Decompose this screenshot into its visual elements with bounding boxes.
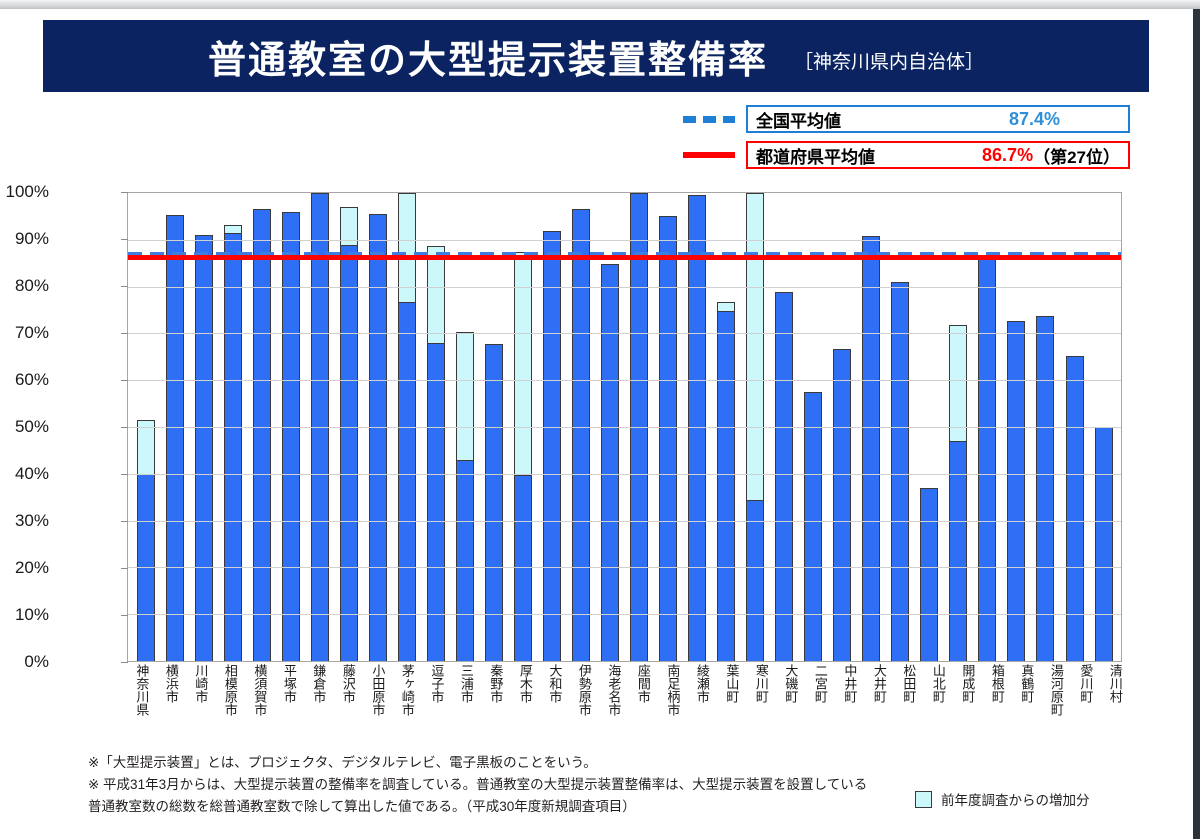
y-axis-tick-label: 30% [15, 511, 49, 531]
gridline [128, 474, 1121, 475]
bar-base-segment [775, 292, 793, 661]
bar-base-segment [572, 209, 590, 661]
bar-increase-segment [224, 225, 242, 233]
x-axis-label: 座間市 [629, 664, 659, 716]
bar-base-segment [253, 209, 271, 661]
x-axis-label: 大井町 [865, 664, 895, 716]
x-axis-label: 湯河原町 [1042, 664, 1072, 716]
x-axis-label: 大磯町 [776, 664, 806, 716]
bar-base-segment [1036, 316, 1054, 661]
gridline [128, 240, 1121, 241]
y-axis-tick [121, 521, 128, 522]
gridline [128, 380, 1121, 381]
x-axis-label: 南足柄市 [658, 664, 688, 716]
x-axis-label: 横須賀市 [245, 664, 275, 716]
bar-真鶴町[interactable] [1007, 321, 1025, 661]
y-axis-tick [121, 427, 128, 428]
prefecture-average-value: 86.7% [982, 145, 1033, 166]
y-axis-tick-label: 60% [15, 370, 49, 390]
bar-相模原市[interactable] [224, 225, 242, 661]
x-axis-label: 鎌倉市 [304, 664, 334, 716]
bar-逗子市[interactable] [427, 246, 445, 661]
y-axis-tick-label: 10% [15, 605, 49, 625]
prefecture-average-line [128, 255, 1121, 260]
bar-横浜市[interactable] [166, 215, 184, 661]
page-subtitle: ［神奈川県内自治体］ [794, 39, 984, 74]
bar-平塚市[interactable] [282, 212, 300, 661]
bar-海老名市[interactable] [601, 264, 619, 661]
x-axis-label: 二宮町 [806, 664, 836, 716]
x-axis-labels: 神奈川県横浜市川崎市相模原市横須賀市平塚市鎌倉市藤沢市小田原市茅ヶ崎市逗子市三浦… [127, 664, 1130, 716]
bar-base-segment [224, 233, 242, 661]
bar-川崎市[interactable] [195, 235, 213, 661]
y-axis-tick-label: 70% [15, 323, 49, 343]
bar-increase-segment [717, 302, 735, 311]
title-banner: 普通教室の大型提示装置整備率 ［神奈川県内自治体］ [43, 20, 1149, 92]
bar-base-segment [398, 302, 416, 661]
bar-清川村[interactable] [1095, 427, 1113, 661]
bar-base-segment [166, 215, 184, 661]
gridline [128, 287, 1121, 288]
y-axis-tick [121, 239, 128, 240]
bar-increase-segment [949, 325, 967, 441]
x-axis-label: 秦野市 [481, 664, 511, 716]
top-gradient-strip [0, 0, 1200, 9]
x-axis-label: 松田町 [894, 664, 924, 716]
footnotes: ※「大型提示装置」とは、プロジェクタ、デジタルテレビ、電子黒板のことをいう。 ※… [88, 752, 908, 818]
bar-大磯町[interactable] [775, 292, 793, 661]
bar-伊勢原市[interactable] [572, 209, 590, 661]
x-axis-label: 伊勢原市 [570, 664, 600, 716]
y-axis-tick [121, 192, 128, 193]
national-average-row: 全国平均値 87.4% [680, 104, 1130, 134]
average-legend: 全国平均値 87.4% 都道府県平均値 86.7% （第27位） [680, 104, 1130, 176]
bar-神奈川県[interactable] [137, 420, 155, 661]
y-axis-tick [121, 615, 128, 616]
x-axis-label: 寒川町 [747, 664, 777, 716]
bar-大井町[interactable] [862, 236, 880, 661]
x-axis-label: 海老名市 [599, 664, 629, 716]
bar-湯河原町[interactable] [1036, 316, 1054, 661]
x-axis-label: 川崎市 [186, 664, 216, 716]
page-title: 普通教室の大型提示装置整備率 [208, 29, 768, 84]
bar-葉山町[interactable] [717, 302, 735, 661]
bar-小田原市[interactable] [369, 214, 387, 661]
bar-base-segment [920, 488, 938, 661]
y-axis-tick [121, 662, 128, 663]
bar-base-segment [891, 282, 909, 661]
bar-increase-segment [514, 252, 532, 476]
bar-二宮町[interactable] [804, 392, 822, 661]
y-axis-tick [121, 286, 128, 287]
prefecture-average-row: 都道府県平均値 86.7% （第27位） [680, 140, 1130, 170]
y-axis-tick [121, 380, 128, 381]
bar-開成町[interactable] [949, 325, 967, 661]
prefecture-average-rank: （第27位） [1033, 143, 1120, 168]
x-axis-label: 真鶴町 [1012, 664, 1042, 716]
bar-base-segment [659, 216, 677, 661]
y-axis-tick-label: 0% [24, 652, 49, 672]
bar-松田町[interactable] [891, 282, 909, 661]
bar-increase-segment [456, 332, 474, 460]
x-axis-label: 大和市 [540, 664, 570, 716]
prefecture-average-label: 都道府県平均値 [756, 143, 875, 168]
x-axis-label: 平塚市 [275, 664, 305, 716]
x-axis-label: 愛川町 [1071, 664, 1101, 716]
x-axis-label: 横浜市 [157, 664, 187, 716]
bar-base-segment [456, 460, 474, 661]
x-axis-label: 三浦市 [452, 664, 482, 716]
bar-base-segment [1066, 356, 1084, 661]
footnote-3: 普通教室数の総数を総普通教室数で除して算出した値である。（平成30年度新規調査項… [88, 796, 908, 818]
x-axis-label: 神奈川県 [127, 664, 157, 716]
x-axis-label: 箱根町 [983, 664, 1013, 716]
x-axis-label: 綾瀬市 [688, 664, 718, 716]
bar-base-segment [746, 500, 764, 661]
x-axis-label: 厚木市 [511, 664, 541, 716]
plot-area [127, 192, 1122, 662]
national-average-box: 全国平均値 87.4% [746, 105, 1130, 133]
bar-箱根町[interactable] [978, 258, 996, 661]
bar-base-segment [543, 231, 561, 661]
x-axis-label: 開成町 [953, 664, 983, 716]
bar-base-segment [804, 392, 822, 661]
x-axis-label: 中井町 [835, 664, 865, 716]
gridline [128, 521, 1121, 522]
increase-color-swatch [915, 791, 932, 808]
increase-legend-label: 前年度調査からの増加分 [941, 789, 1090, 809]
bar-base-segment [717, 311, 735, 661]
y-axis-tick-label: 20% [15, 558, 49, 578]
y-axis-tick [121, 568, 128, 569]
y-axis-tick [121, 474, 128, 475]
national-average-value: 87.4% [1009, 109, 1060, 130]
bar-base-segment [1095, 427, 1113, 661]
bar-山北町[interactable] [920, 488, 938, 661]
y-axis-tick [121, 333, 128, 334]
x-axis-label: 相模原市 [216, 664, 246, 716]
y-axis-tick-label: 40% [15, 464, 49, 484]
y-axis-tick-label: 50% [15, 417, 49, 437]
slide-page: 普通教室の大型提示装置整備率 ［神奈川県内自治体］ 全国平均値 87.4% 都道… [0, 0, 1200, 839]
bar-base-segment [1007, 321, 1025, 661]
x-axis-label: 逗子市 [422, 664, 452, 716]
chart-area: 100%90%80%70%60%50%40%30%20%10%0% [55, 186, 1130, 662]
gridline [128, 333, 1121, 334]
bar-愛川町[interactable] [1066, 356, 1084, 661]
x-axis-label: 山北町 [924, 664, 954, 716]
bar-base-segment [340, 245, 358, 661]
footnote-2: ※ 平成31年3月からは、大型提示装置の整備率を調査している。普通教室の大型提示… [88, 774, 908, 796]
bar-横須賀市[interactable] [253, 209, 271, 661]
footnote-1: ※「大型提示装置」とは、プロジェクタ、デジタルテレビ、電子黒板のことをいう。 [88, 752, 908, 774]
bar-南足柄市[interactable] [659, 216, 677, 661]
bar-base-segment [369, 214, 387, 661]
bar-base-segment [195, 235, 213, 661]
x-axis-label: 茅ヶ崎市 [393, 664, 423, 716]
bar-increase-segment [427, 246, 445, 343]
gridline [128, 427, 1121, 428]
bar-大和市[interactable] [543, 231, 561, 661]
x-axis-label: 小田原市 [363, 664, 393, 716]
x-axis-label: 葉山町 [717, 664, 747, 716]
y-axis-tick-label: 100% [6, 182, 49, 202]
bar-藤沢市[interactable] [340, 207, 358, 661]
x-axis-label: 清川村 [1101, 664, 1131, 716]
bar-厚木市[interactable] [514, 252, 532, 662]
increase-legend: 前年度調査からの増加分 [915, 789, 1090, 809]
gridline [128, 567, 1121, 568]
bar-base-segment [978, 258, 996, 661]
gridline [128, 614, 1121, 615]
y-axis-tick-label: 90% [15, 229, 49, 249]
national-average-label: 全国平均値 [756, 107, 841, 132]
x-axis-label: 藤沢市 [334, 664, 364, 716]
prefecture-average-box: 都道府県平均値 86.7% （第27位） [746, 141, 1130, 169]
bar-base-segment [601, 264, 619, 661]
bar-base-segment [862, 236, 880, 661]
y-axis-tick-label: 80% [15, 276, 49, 296]
bar-base-segment [282, 212, 300, 661]
